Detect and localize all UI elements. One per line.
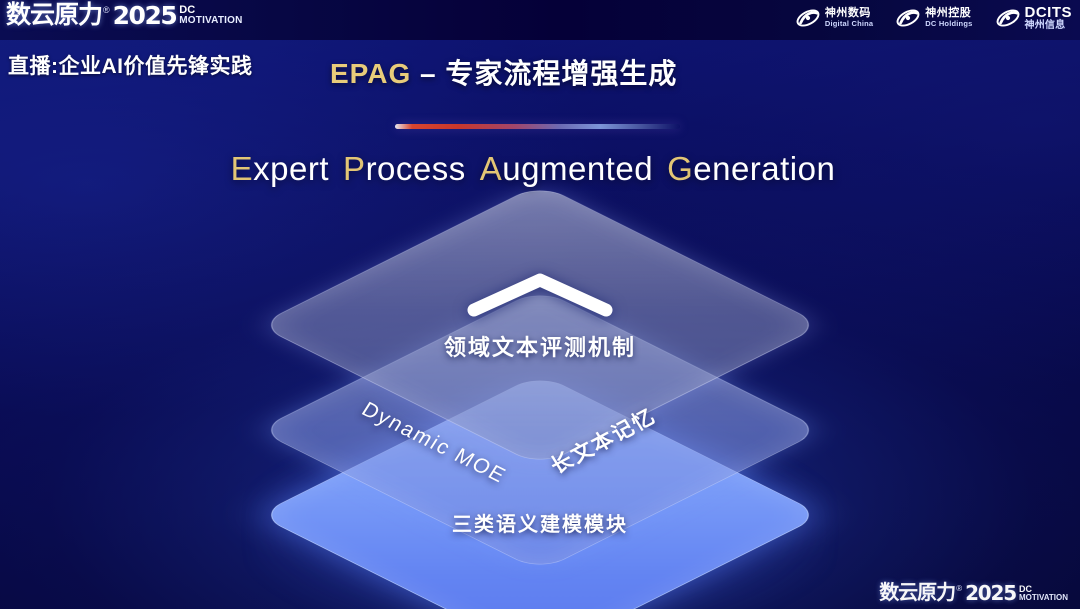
partner-logo-digital-china: 神州数码 Digital China	[795, 5, 873, 31]
brand-name-cn: 数云原力	[6, 3, 102, 28]
partner-label: 神州控股 DC Holdings	[925, 8, 972, 27]
subtitle-rest: ugmented	[502, 150, 653, 187]
partner-name-en: DC Holdings	[925, 20, 972, 28]
watermark-dc-motivation: DC MOTIVATION	[1019, 585, 1068, 602]
brand-logo: 数云原力 ® 2025 DC MOTIVATION	[6, 3, 243, 28]
page-title: EPAG – 专家流程增强生成	[330, 52, 677, 92]
brand-dc-line2: MOTIVATION	[179, 16, 242, 26]
watermark-name-cn: 数云原力	[879, 583, 955, 603]
brand-year: 2025	[113, 3, 177, 28]
subtitle-word-generation: Generation	[667, 150, 835, 187]
partner-logo-group: 神州数码 Digital China 神州控股 DC Holdings	[795, 5, 1072, 31]
partner-name-en: 神州信息	[1025, 21, 1073, 32]
gradient-divider	[395, 124, 680, 129]
subtitle-rest: xpert	[253, 150, 329, 187]
subtitle-word-augmented: Augmented	[480, 150, 653, 187]
subtitle-word-expert: Expert	[231, 150, 329, 187]
subtitle-word-process: Process	[343, 150, 466, 187]
headline-title-cn: 专家流程增强生成	[445, 58, 677, 89]
stack-label-top: 领域文本评测机制	[0, 330, 1080, 362]
swirl-icon	[995, 5, 1021, 31]
subtitle-cap: P	[343, 150, 366, 187]
subtitle-rest: rocess	[366, 150, 466, 187]
chevron-up-icon	[464, 268, 616, 320]
partner-logo-dc-holdings: 神州控股 DC Holdings	[895, 5, 972, 31]
subtitle-cap: A	[480, 150, 503, 187]
subtitle: ExpertProcessAugmentedGeneration	[0, 150, 1080, 188]
watermark-dc-line2: MOTIVATION	[1019, 594, 1068, 602]
brand-dc-motivation: DC MOTIVATION	[179, 5, 242, 26]
partner-name-en: Digital China	[825, 20, 873, 28]
presentation-slide: 数云原力 ® 2025 DC MOTIVATION 神州数码 Digital C…	[0, 0, 1080, 609]
partner-label: 神州数码 Digital China	[825, 8, 873, 27]
live-banner: 直播:企业AI价值先锋实践	[8, 50, 253, 80]
headline-separator: –	[411, 58, 445, 89]
brand-registered-mark: ®	[103, 6, 110, 15]
swirl-icon	[795, 5, 821, 31]
subtitle-cap: G	[667, 150, 693, 187]
watermark-year: 2025	[965, 583, 1016, 603]
headline-acronym: EPAG	[330, 58, 411, 89]
subtitle-rest: eneration	[693, 150, 835, 187]
swirl-icon	[895, 5, 921, 31]
watermark-registered-mark: ®	[956, 584, 962, 593]
watermark-logo: 数云原力 ® 2025 DC MOTIVATION	[879, 583, 1068, 603]
subtitle-cap: E	[231, 150, 254, 187]
partner-name-cn: DCITS	[1025, 5, 1073, 21]
partner-label: DCITS 神州信息	[1025, 5, 1073, 31]
partner-logo-dcits: DCITS 神州信息	[995, 5, 1073, 31]
stack-label-bottom: 三类语义建模模块	[0, 508, 1080, 537]
